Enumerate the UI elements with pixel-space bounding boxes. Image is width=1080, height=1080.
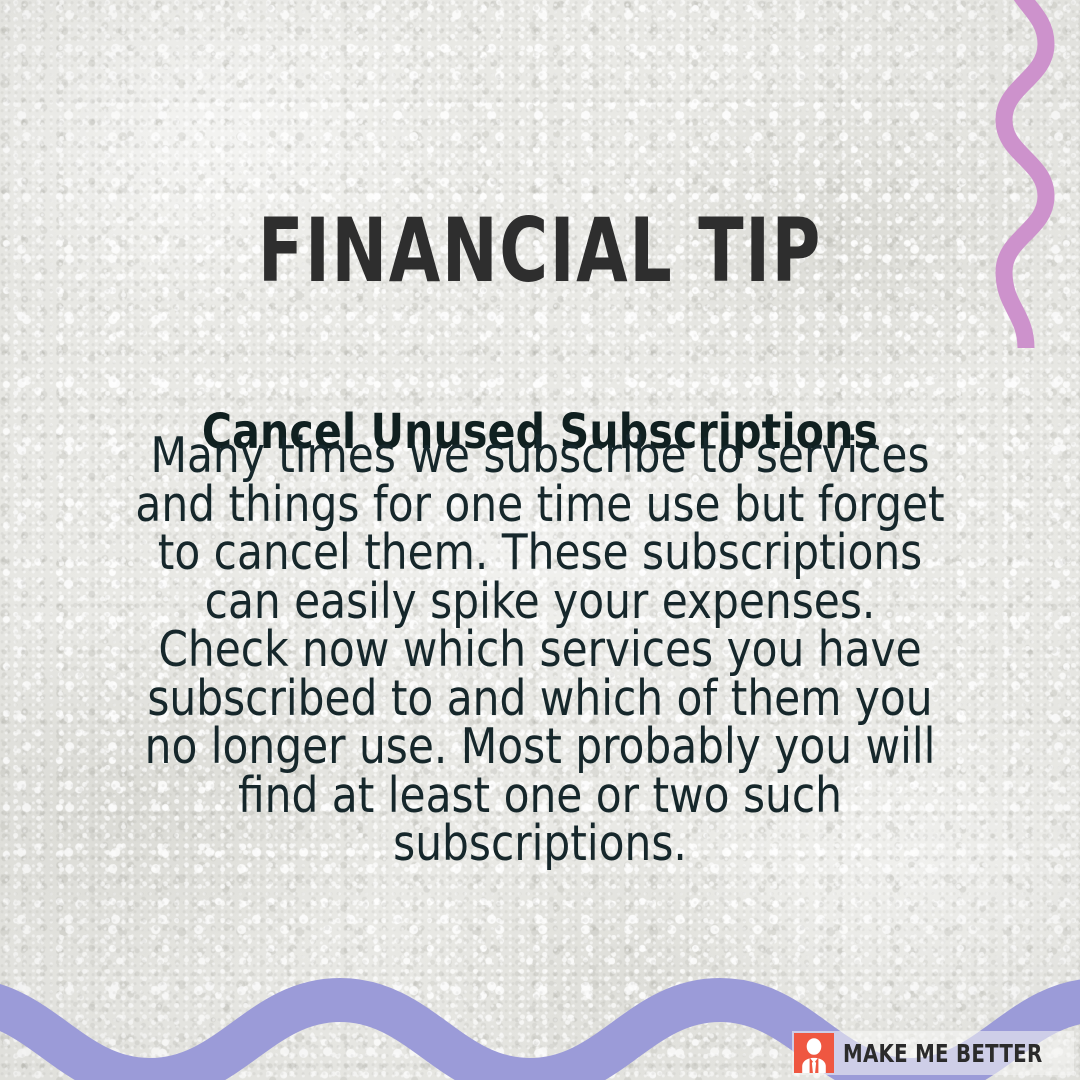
body-line: can easily spike your expenses. (127, 578, 953, 627)
vertical-wavy-line-decoration (960, 0, 1080, 348)
body-line: Check now which services you have (127, 626, 953, 675)
tip-body-text: Many times we subscribe to services and … (127, 432, 953, 869)
person-in-suit-avatar-icon (794, 1033, 834, 1073)
body-line: and things for one time use but forget (127, 481, 953, 530)
body-line: subscriptions. (127, 820, 953, 869)
body-line: subscribed to and which of them you (127, 675, 953, 724)
body-line: to cancel them. These subscriptions (127, 529, 953, 578)
brand-name: MAKE ME BETTER (843, 1041, 1042, 1066)
body-line: Many times we subscribe to services (127, 432, 953, 481)
page-title: FINANCIAL TIP (86, 207, 993, 295)
brand-watermark[interactable]: MAKE ME BETTER (792, 1031, 1074, 1075)
body-line: no longer use. Most probably you will (127, 723, 953, 772)
body-line: find at least one or two such (127, 772, 953, 821)
poster-canvas: FINANCIAL TIP Cancel Unused Subscription… (0, 0, 1080, 1080)
